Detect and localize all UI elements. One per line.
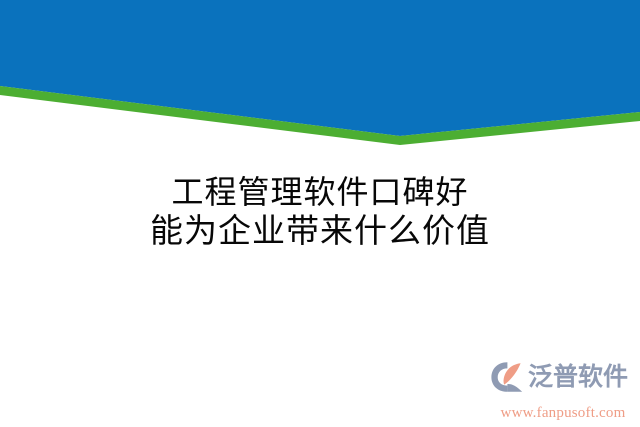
brand-watermark: 泛普软件 www.fanpusoft.com xyxy=(490,359,634,421)
title-line-2: 能为企业带来什么价值 xyxy=(0,212,640,252)
title-line-1: 工程管理软件口碑好 xyxy=(0,172,640,212)
page-title: 工程管理软件口碑好 能为企业带来什么价值 xyxy=(0,172,640,252)
slide-canvas: 工程管理软件口碑好 能为企业带来什么价值 泛普软件 www.fanpusoft.… xyxy=(0,0,640,427)
banner-blue-shape xyxy=(0,0,640,136)
brand-lockup: 泛普软件 xyxy=(490,361,628,393)
brand-wordmark: 泛普软件 xyxy=(528,363,628,391)
fanpu-swoosh-icon xyxy=(490,361,524,393)
brand-url: www.fanpusoft.com xyxy=(492,405,634,421)
chevron-banner xyxy=(0,0,640,160)
